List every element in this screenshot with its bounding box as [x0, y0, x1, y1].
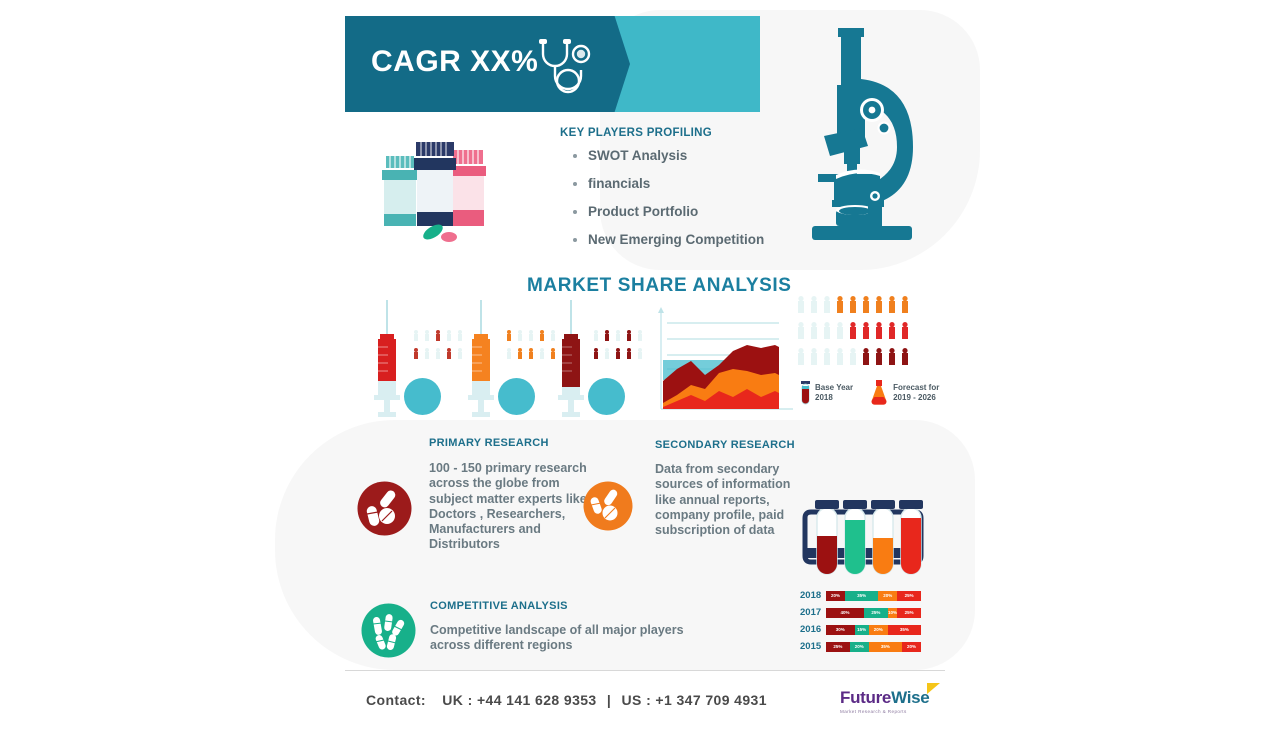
legend-item-base-year: Base Year 2018 [800, 380, 853, 406]
bar-segment: 20% [869, 625, 888, 635]
contact-us: US : +1 347 709 4931 [622, 692, 767, 708]
list-item: Product Portfolio [566, 204, 764, 219]
table-row: 2018 20% 35% 20% 25% [800, 589, 921, 602]
bar-track: 20% 35% 20% 25% [826, 591, 921, 601]
competitive-analysis-body: Competitive landscape of all major playe… [430, 623, 710, 654]
bar-segment: 35% [869, 642, 902, 652]
teal-circle-1 [404, 378, 441, 415]
bar-segment: 35% [845, 591, 878, 601]
test-tubes-icon [799, 494, 927, 580]
logo-part-a: Future [840, 688, 891, 707]
bar-segment: 25% [826, 642, 850, 652]
secondary-research-body: Data from secondary sources of informati… [655, 462, 807, 538]
capsules-circle-icon [361, 603, 416, 658]
bar-segment: 20% [850, 642, 869, 652]
contact-uk: UK : +44 141 628 9353 [442, 692, 596, 708]
contact-label: Contact: [366, 692, 426, 708]
list-item: SWOT Analysis [566, 148, 764, 163]
bar-segment: 10% [888, 608, 898, 618]
table-row: 2015 25% 20% 35% 20% [800, 640, 921, 653]
people-row-group-3 [592, 330, 662, 380]
bar-segment: 20% [878, 591, 897, 601]
cagr-label: CAGR XX% [371, 45, 538, 79]
cagr-banner: CAGR XX% [345, 16, 760, 112]
table-row: 2017 40% 25% 10% 25% [800, 606, 921, 619]
flask-icon [869, 380, 889, 406]
contact-separator: | [607, 692, 611, 708]
secondary-research-title: SECONDARY RESEARCH [655, 439, 795, 451]
syringe-icon-2 [462, 300, 502, 418]
market-share-legend: Base Year 2018 Forecast for 2019 - 2026 [800, 380, 949, 406]
bar-track: 30% 15% 20% 35% [826, 625, 921, 635]
pills-circle-icon-primary [357, 481, 412, 536]
people-matrix-pictogram [797, 296, 917, 372]
list-item: New Emerging Competition [566, 232, 764, 247]
year-label: 2016 [800, 624, 826, 635]
year-share-bars: 2018 20% 35% 20% 25% 2017 40% 25% 10% 25… [800, 589, 921, 657]
stethoscope-icon [535, 36, 605, 98]
legend-text-forecast: Forecast for 2019 - 2026 [893, 383, 939, 403]
syringe-icon-1 [368, 300, 408, 418]
year-label: 2017 [800, 607, 826, 618]
footer-divider [345, 670, 945, 671]
legend-item-forecast: Forecast for 2019 - 2026 [869, 380, 939, 406]
futurewise-logo[interactable]: FutureWise Market Research & Reports [840, 688, 929, 714]
logo-tagline: Market Research & Reports [840, 709, 929, 714]
year-label: 2018 [800, 590, 826, 601]
list-item: financials [566, 176, 764, 191]
market-share-area-chart [655, 303, 795, 415]
primary-research-body: 100 - 150 primary research across the gl… [429, 461, 594, 553]
legend-text-base-year: Base Year 2018 [815, 383, 853, 403]
bar-segment: 20% [826, 591, 845, 601]
pictogram-row-3 [798, 348, 908, 365]
contact-line: Contact: UK : +44 141 628 9353 | US : +1… [366, 692, 767, 708]
syringe-icon-3 [552, 300, 592, 418]
teal-circle-3 [588, 378, 625, 415]
bar-track: 25% 20% 35% 20% [826, 642, 921, 652]
bar-segment: 25% [864, 608, 888, 618]
bar-segment: 20% [902, 642, 921, 652]
key-players-title: KEY PLAYERS PROFILING [560, 127, 712, 139]
logo-part-b: Wise [891, 688, 929, 707]
pictogram-row-1 [798, 296, 908, 313]
bar-segment: 35% [888, 625, 921, 635]
bar-segment: 40% [826, 608, 864, 618]
pictogram-row-2 [798, 322, 908, 339]
table-row: 2016 30% 15% 20% 35% [800, 623, 921, 636]
infographic-canvas: CAGR XX% [0, 0, 1280, 731]
pill-bottles-icon [370, 140, 500, 250]
primary-research-title: PRIMARY RESEARCH [429, 437, 549, 449]
competitive-analysis-title: COMPETITIVE ANALYSIS [430, 600, 568, 612]
logo-wordmark: FutureWise [840, 688, 929, 708]
legend-line1: Forecast for [893, 383, 939, 393]
legend-line1: Base Year [815, 383, 853, 393]
market-share-title: MARKET SHARE ANALYSIS [527, 275, 792, 297]
test-tube-icon [800, 380, 811, 406]
pills-circle-icon-secondary [583, 481, 633, 531]
bar-segment: 15% [855, 625, 869, 635]
teal-circle-2 [498, 378, 535, 415]
bar-segment: 25% [897, 608, 921, 618]
microscope-icon [806, 24, 938, 248]
logo-flag-icon [927, 683, 940, 694]
bar-segment: 25% [897, 591, 921, 601]
key-players-list: SWOT Analysis financials Product Portfol… [566, 148, 764, 260]
bar-track: 40% 25% 10% 25% [826, 608, 921, 618]
year-label: 2015 [800, 641, 826, 652]
bar-segment: 30% [826, 625, 855, 635]
legend-line2: 2019 - 2026 [893, 393, 939, 403]
legend-line2: 2018 [815, 393, 853, 403]
